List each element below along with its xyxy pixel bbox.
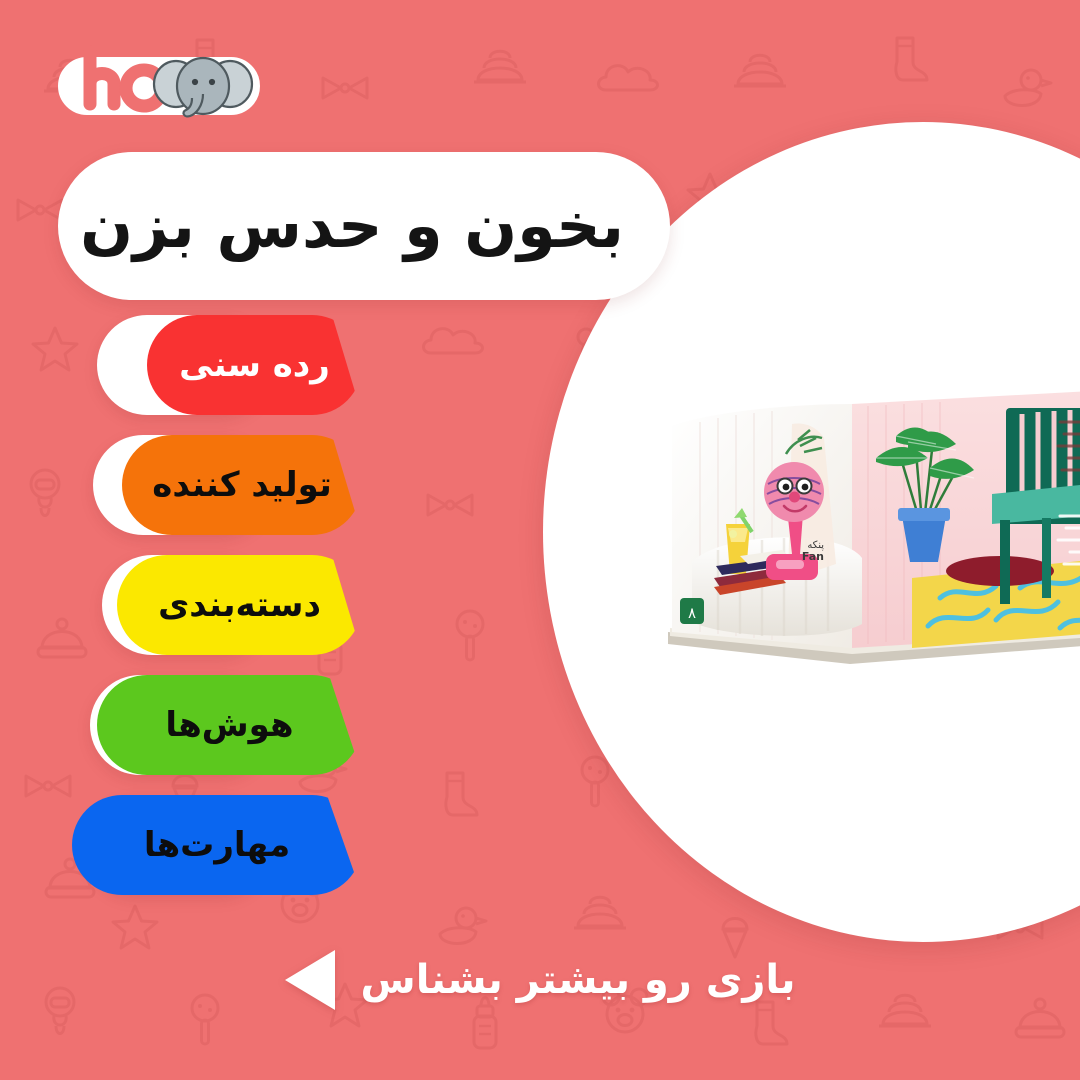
spec-label-skills: مهارت‌ها xyxy=(72,795,362,895)
spec-row-producer: آریا نوین تولید کننده xyxy=(0,435,720,535)
spec-row-skills: تشویق کودک به کتاب‌خوانی آموزش موضوعات م… xyxy=(0,795,720,895)
spec-label-producer: تولید کننده xyxy=(122,435,362,535)
spec-label-category: دسته‌بندی xyxy=(117,555,362,655)
page-title: بخون و حدس بزن xyxy=(80,190,670,261)
spec-label-text: تولید کننده xyxy=(152,465,331,505)
page-number-text: ۸ xyxy=(688,604,696,622)
cta-banner[interactable]: بازی رو بیشتر بشناس xyxy=(0,940,1080,1020)
spec-row-category: کتاب کودک دسته‌بندی xyxy=(0,555,720,655)
fan-label-en: Fan xyxy=(802,550,824,563)
spec-row-age-range: ۳+ سال رده سنی xyxy=(0,315,720,415)
product-title-card: بخون و حدس بزن xyxy=(58,152,670,300)
spec-label-intelligences: هوش‌ها xyxy=(97,675,362,775)
play-triangle-icon[interactable] xyxy=(285,950,335,1010)
product-photo: پنکه Fan xyxy=(640,382,1080,682)
spec-label-text: مهارت‌ها xyxy=(144,825,290,865)
brand-logo[interactable] xyxy=(56,44,262,128)
spec-list: ۳+ سال رده سنی آریا نوین تولید کننده xyxy=(0,315,720,915)
cta-label: بازی رو بیشتر بشناس xyxy=(361,957,796,1003)
spec-label-text: دسته‌بندی xyxy=(158,585,321,625)
spec-label-age-range: رده سنی xyxy=(147,315,362,415)
spec-label-text: هوش‌ها xyxy=(165,705,293,745)
page-number-badge: ۸ xyxy=(680,598,704,624)
spec-row-intelligences: تصویری-فضایی طبیعت‌گرا کلامی-زبانی هوش‌ه… xyxy=(0,675,720,775)
poster-canvas: بخون و حدس بزن ۳+ سال رده سنی آریا نوین xyxy=(0,0,1080,1080)
spec-label-text: رده سنی xyxy=(179,345,330,385)
